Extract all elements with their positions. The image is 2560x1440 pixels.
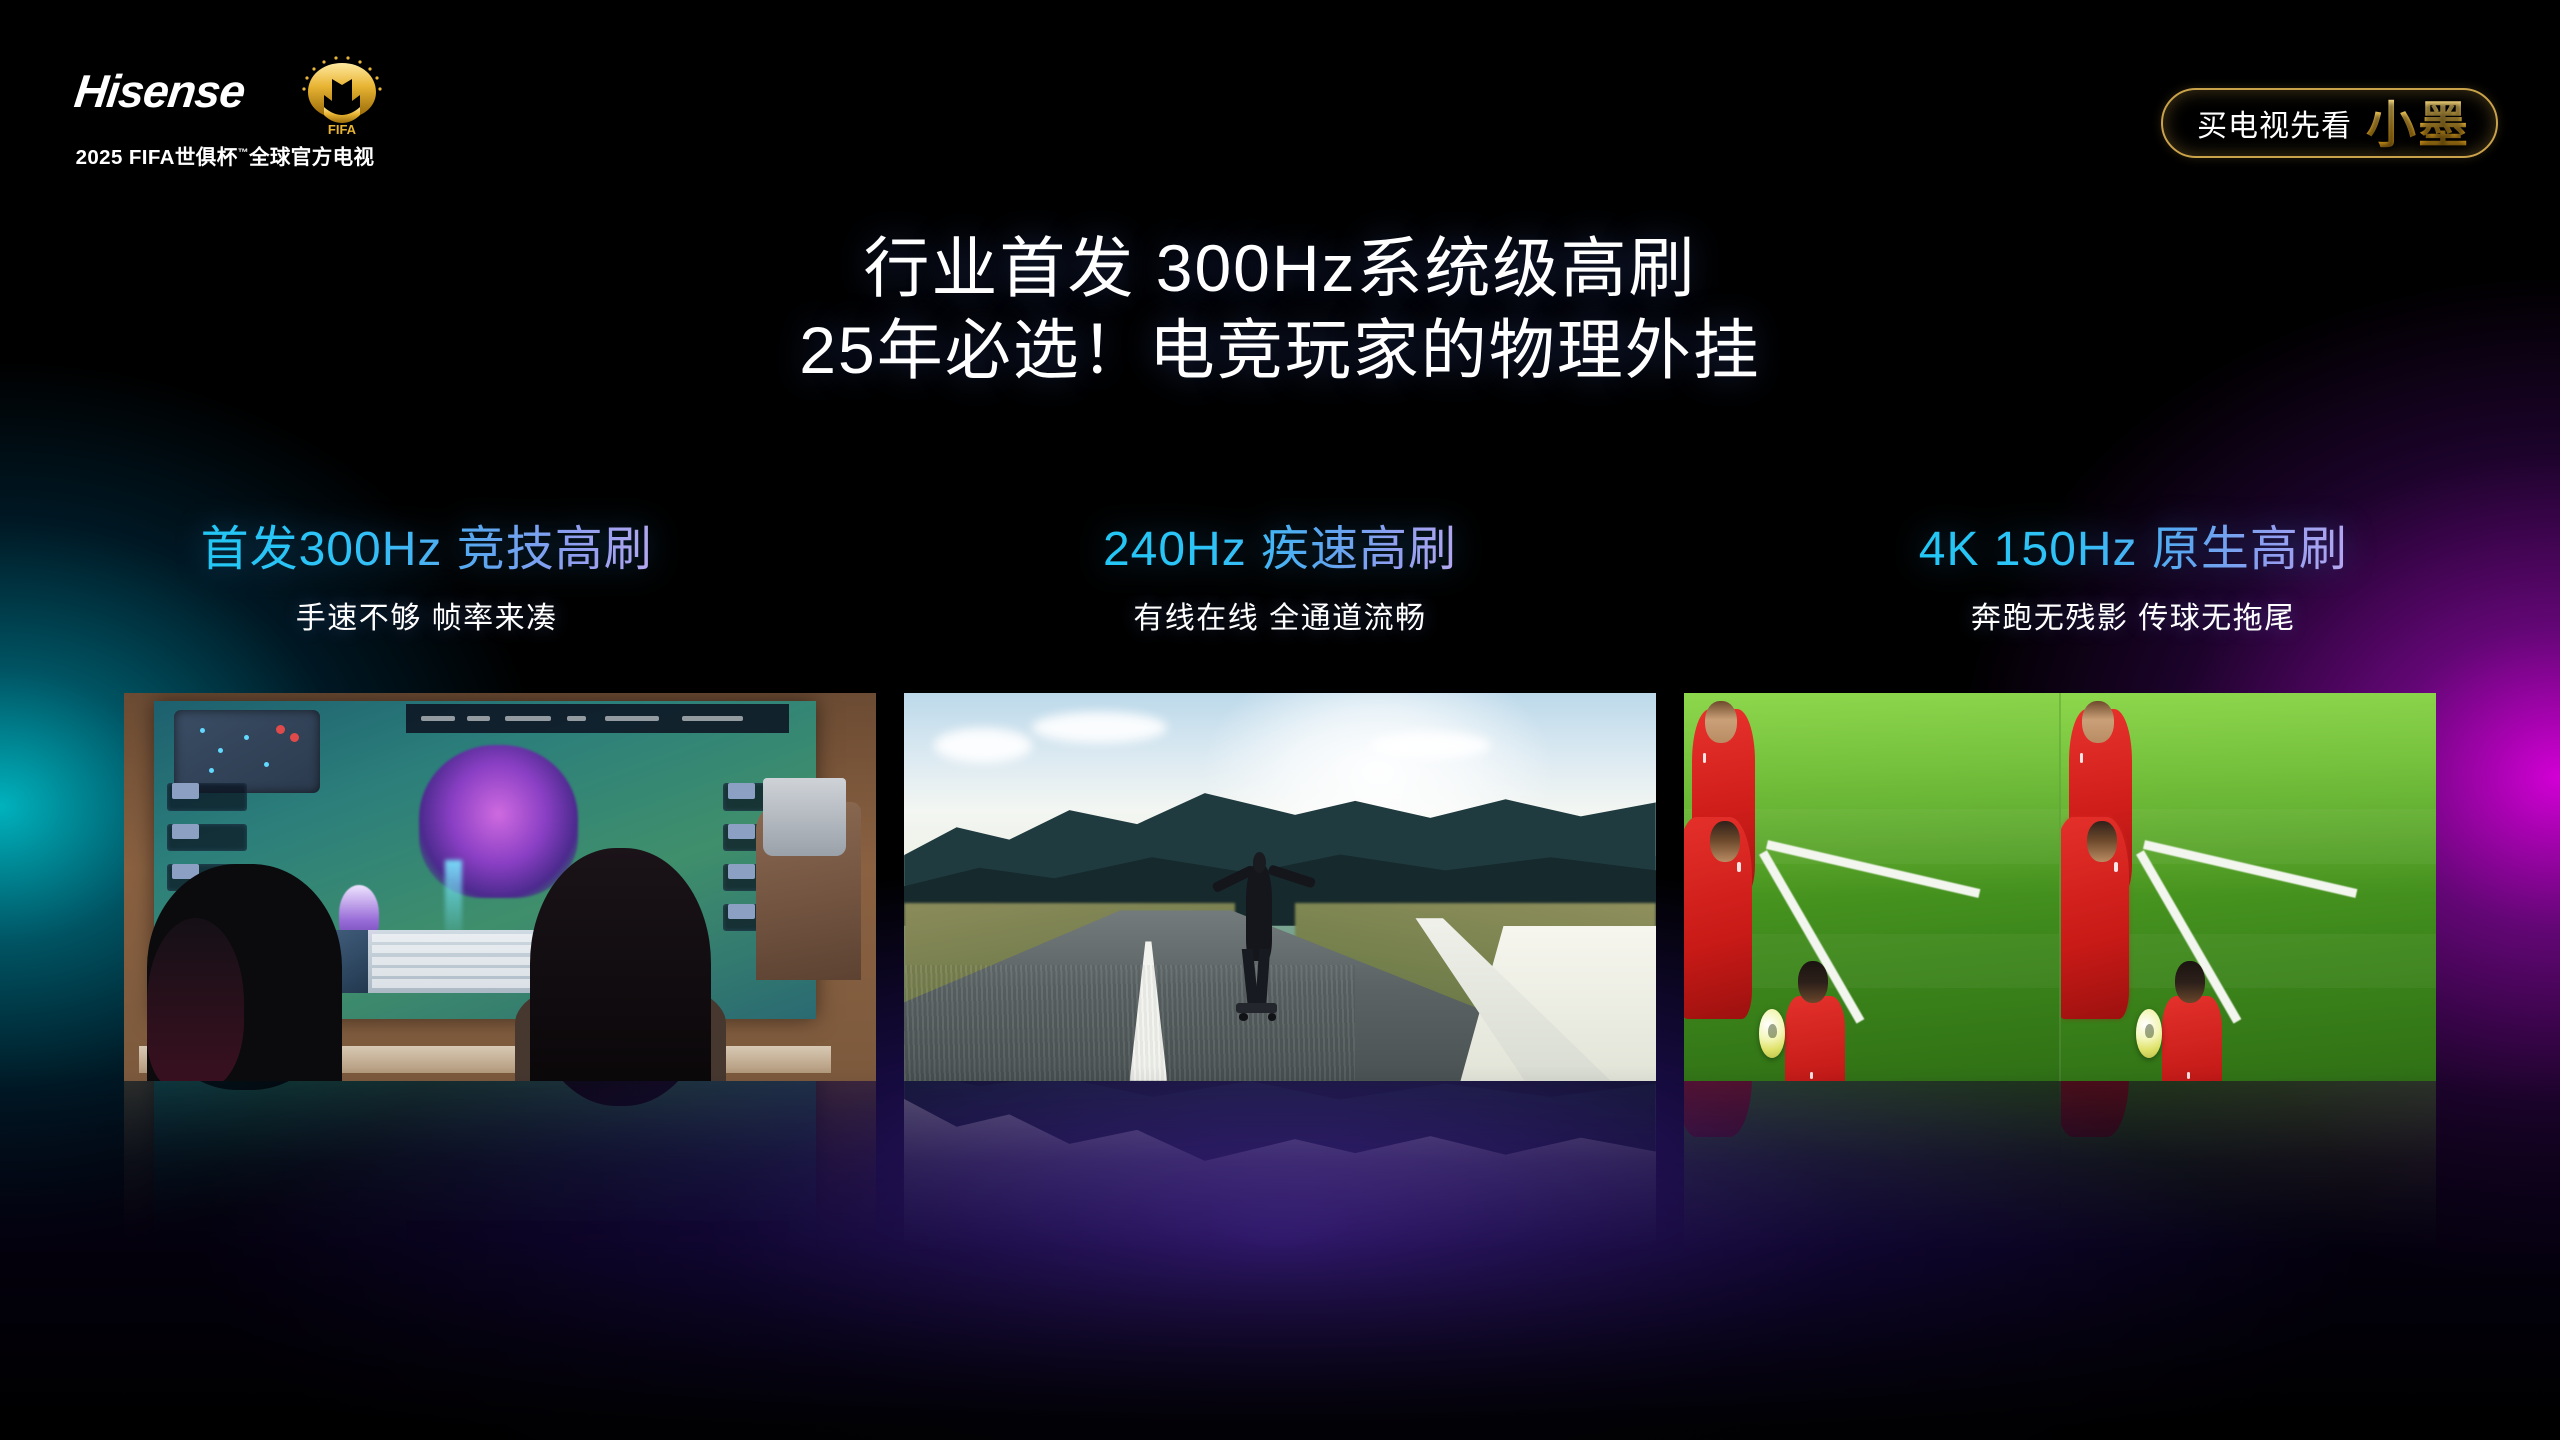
media-panel-skateboard <box>904 693 1656 1081</box>
promo-pill-brand: 小墨 <box>2366 85 2470 157</box>
brand-row: Hisense <box>75 48 375 134</box>
football-frame-right <box>2059 693 2436 1081</box>
brand-caption-prefix: 2025 FIFA世俱杯 <box>76 146 238 169</box>
motion-blur-streaks <box>904 965 1355 1081</box>
skateboard-wheel <box>1268 1013 1276 1020</box>
player-red-bottom <box>1785 996 1845 1081</box>
feature-subtitle-1: 手速不够 帧率来凑 <box>296 593 558 637</box>
skater-head <box>1253 852 1266 873</box>
viewer-person-right <box>530 848 710 1081</box>
football-ball <box>2136 1009 2162 1058</box>
feature-column-3: 4K 150Hz 原生高刷 奔跑无残影 传球无拖尾 <box>1707 524 2560 637</box>
feature-subtitle-3: 奔跑无残影 传球无拖尾 <box>1971 593 2296 637</box>
feature-column-1: 首发300Hz 竞技高刷 手速不够 帧率来凑 <box>0 524 853 637</box>
cloud <box>934 728 1032 763</box>
skateboard-wheel <box>1239 1013 1247 1020</box>
feature-subtitle-2: 有线在线 全通道流畅 <box>1133 593 1426 637</box>
game-boss-monster <box>419 745 578 898</box>
player-red-top-head <box>2082 701 2114 744</box>
player-red-bottom <box>2162 996 2222 1081</box>
brand-caption-tm: ™ <box>238 147 249 159</box>
reflection-esports <box>124 1081 876 1261</box>
fifa-badge-label: FIFA <box>328 122 357 137</box>
skateboard-deck <box>1236 1003 1277 1012</box>
page-title: 行业首发 300Hz系统级高刷 25年必选！电竞玩家的物理外挂 <box>0 228 2560 392</box>
game-hud-bar <box>406 704 790 733</box>
viewer-left-hair <box>147 918 245 1081</box>
slide-root: Hisense <box>0 0 2560 1440</box>
brand-caption-suffix: 全球官方电视 <box>249 146 374 169</box>
football-ball <box>1759 1009 1785 1058</box>
panel-reflections <box>124 1081 2436 1261</box>
skater-body <box>1246 864 1272 961</box>
cloud <box>1370 732 1490 759</box>
promo-pill-text: 买电视先看 <box>2197 101 2352 145</box>
feature-column-2: 240Hz 疾速高刷 有线在线 全通道流畅 <box>853 524 1706 637</box>
fifa-club-world-cup-badge-icon: FIFA <box>288 45 396 137</box>
feature-title-2: 240Hz 疾速高刷 <box>1103 524 1457 577</box>
skateboarder-mountain-road-photo <box>904 693 1656 1081</box>
football-frame-left <box>1684 693 2059 1081</box>
esports-living-room-photo <box>124 693 876 1081</box>
feature-columns: 首发300Hz 竞技高刷 手速不够 帧率来凑 240Hz 疾速高刷 有线在线 全… <box>0 524 2560 637</box>
player-red-mid-head <box>2087 821 2117 862</box>
media-panel-esports <box>124 693 876 1081</box>
headline-line-1: 行业首发 300Hz系统级高刷 <box>863 231 1696 305</box>
feature-title-1: 首发300Hz 竞技高刷 <box>201 524 653 577</box>
reflection-football <box>1684 1081 2436 1261</box>
feature-title-3: 4K 150Hz 原生高刷 <box>1919 524 2348 577</box>
football-motion-comparison-photo <box>1684 693 2436 1081</box>
brand-block: Hisense <box>75 48 375 170</box>
player-red-bottom-head <box>1798 961 1828 1004</box>
media-panels <box>124 693 2436 1081</box>
media-panel-football <box>1684 693 2436 1081</box>
brand-caption: 2025 FIFA世俱杯™全球官方电视 <box>75 140 375 170</box>
drink-cup <box>763 778 846 856</box>
player-red-bottom-head <box>2175 961 2205 1004</box>
promo-pill-badge[interactable]: 买电视先看 小墨 <box>2161 88 2498 158</box>
hisense-logo: Hisense <box>72 64 248 118</box>
player-red-mid-head <box>1710 821 1740 862</box>
headline-line-2: 25年必选！电竞玩家的物理外挂 <box>0 310 2560 392</box>
reflection-skateboard <box>904 1081 1656 1261</box>
player-red-top-head <box>1705 701 1737 744</box>
